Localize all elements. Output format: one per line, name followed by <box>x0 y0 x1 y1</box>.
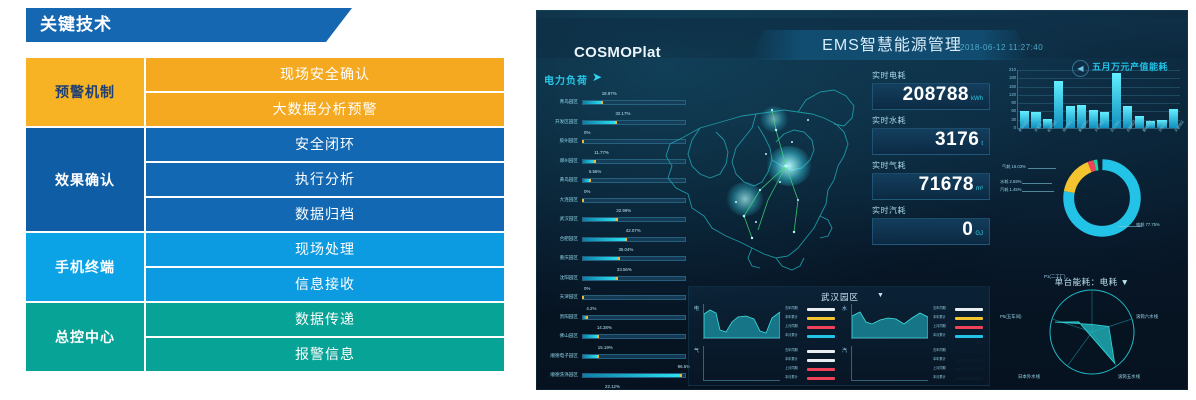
tech-row: 现场安全确认 <box>146 58 504 91</box>
load-bar-label: 胶州园区 <box>542 138 578 144</box>
donut-chart-svg <box>1058 154 1146 242</box>
legend-swatch <box>955 377 983 380</box>
load-bar-track <box>582 334 686 339</box>
legend-label: 上月同期 <box>933 325 953 329</box>
legend-row: 本年累计 <box>933 356 985 364</box>
load-bar-fill <box>583 355 598 358</box>
legend-swatch <box>807 350 835 353</box>
load-bar-row[interactable]: 顺德电子园区15.19% <box>542 344 690 364</box>
load-bar-percent: 0% <box>584 286 590 291</box>
tech-group-label-1: 效果确认 <box>26 128 144 231</box>
load-bar-marker <box>582 199 584 202</box>
legend-row: 本年累计 <box>933 314 985 322</box>
load-bar-label: 贵阳园区 <box>542 314 578 320</box>
load-bar-marker <box>589 179 591 182</box>
y-tick: 180 <box>1009 76 1016 80</box>
tech-row: 报警信息 <box>146 338 504 371</box>
legend-swatch <box>955 368 983 371</box>
kpi-card: 实时电耗208788kWh <box>872 70 990 110</box>
load-bar-label: 郑州园区 <box>542 158 578 164</box>
load-bar-percent: 33.56% <box>617 267 632 272</box>
load-bar-marker <box>582 140 584 143</box>
kpi-card: 实时水耗3176t <box>872 115 990 155</box>
caret-down-icon[interactable]: ▼ <box>877 292 884 299</box>
donut-label-elec: 电耗 77.75% <box>1136 222 1160 228</box>
mini-area-series <box>704 304 780 338</box>
technology-table: 预警机制现场安全确认大数据分析预警效果确认安全闭环执行分析数据归档手机终端现场处… <box>26 58 504 373</box>
legend-swatch <box>807 377 835 380</box>
chevron-right-icon[interactable]: ➤ <box>592 70 602 84</box>
load-bar-fill <box>583 374 681 377</box>
tech-group-rows: 安全闭环执行分析数据归档 <box>146 128 504 231</box>
legend-label: 去年同期 <box>933 349 953 353</box>
load-bar-fill <box>583 257 619 260</box>
china-map[interactable] <box>648 70 884 280</box>
kpi-value-box: 208788kWh <box>872 83 990 110</box>
power-load-title: 电力负荷 <box>544 72 588 87</box>
legend-swatch <box>807 359 835 362</box>
mini-chart-tag: 电 <box>694 305 699 312</box>
tech-group-rows: 现场安全确认大数据分析预警 <box>146 58 504 126</box>
tech-group-label-3: 总控中心 <box>26 303 144 371</box>
kpi-value: 0 <box>962 219 973 241</box>
load-bar-row[interactable]: 贵阳园区4.2% <box>542 305 690 325</box>
legend-swatch <box>955 335 983 338</box>
mini-area-series <box>852 304 928 338</box>
legend-label: 本月累计 <box>785 334 805 338</box>
y-tick: 210 <box>1009 68 1016 72</box>
legend-label: 本月累计 <box>933 334 953 338</box>
mini-chart-tag: 水 <box>842 305 847 312</box>
legend-label: 本年累计 <box>785 358 805 362</box>
kpi-column: 实时电耗208788kWh实时水耗3176t实时气耗71678m³实时汽耗0GJ <box>872 70 990 250</box>
load-bar-marker <box>594 160 596 163</box>
map-link-lines <box>648 70 884 280</box>
tech-group: 效果确认安全闭环执行分析数据归档 <box>26 128 504 231</box>
legend-swatch <box>807 317 835 320</box>
legend-label: 本年累计 <box>785 316 805 320</box>
dashboard-topbar: COSMOPlat EMS智慧能源管理 2018-06-12 11:27:40 … <box>536 18 1188 58</box>
tech-row: 数据传递 <box>146 303 504 336</box>
legend-row: 上月同期 <box>785 365 837 373</box>
key-technology-panel: 关键技术 预警机制现场安全确认大数据分析预警效果确认安全闭环执行分析数据归档手机… <box>0 0 530 400</box>
load-bar-marker <box>597 355 599 358</box>
kpi-unit: t <box>981 141 983 147</box>
load-bar-label: 佛山园区 <box>542 333 578 339</box>
mini-chart-plot <box>703 346 780 381</box>
mini-chart-tag: 汽 <box>842 347 847 354</box>
load-bar-marker <box>618 257 620 260</box>
load-bar-percent: 15.19% <box>598 345 613 350</box>
load-bar-track <box>582 295 686 300</box>
radar-label-1: 滚筒六水线 <box>1136 314 1158 320</box>
bar-chart-y-axis: 2101801501209060300 <box>1002 70 1016 128</box>
legend-swatch <box>807 335 835 338</box>
mini-chart-plot <box>851 304 928 339</box>
legend-label: 去年同期 <box>785 307 805 311</box>
load-bar-percent: 0% <box>584 189 590 194</box>
mini-chart-panel[interactable]: 气去年同期本年累计上月同期本月累计 <box>693 345 838 385</box>
legend-row: 上月同期 <box>785 323 837 331</box>
legend-label: 上月同期 <box>933 367 953 371</box>
kpi-label: 实时汽耗 <box>872 205 990 216</box>
tech-group: 手机终端现场处理信息接收 <box>26 233 504 301</box>
load-bar-marker <box>601 101 603 104</box>
legend-swatch <box>955 359 983 362</box>
mini-chart-plot <box>703 304 780 339</box>
mini-chart-legend: 去年同期本年累计上月同期本月累计 <box>785 305 837 341</box>
tech-group-rows: 数据传递报警信息 <box>146 303 504 371</box>
kpi-value-box: 0GJ <box>872 218 990 245</box>
legend-row: 本月累计 <box>933 332 985 340</box>
legend-row: 本月累计 <box>933 374 985 382</box>
donut-label-steam: 汽耗 1.45% <box>1000 187 1021 193</box>
load-bar-percent: 4.2% <box>586 306 596 311</box>
load-bar-percent: 35.04% <box>618 247 633 252</box>
tech-group-label-0: 预警机制 <box>26 58 144 126</box>
y-tick: 90 <box>1011 101 1016 105</box>
legend-label: 上月同期 <box>785 367 805 371</box>
kpi-unit: m³ <box>976 186 983 192</box>
legend-label: 本年累计 <box>933 316 953 320</box>
legend-row: 去年同期 <box>785 305 837 313</box>
load-bar-label: 青岛园区 <box>542 99 578 105</box>
tech-group-rows: 现场处理信息接收 <box>146 233 504 301</box>
load-bar-fill <box>583 101 602 104</box>
legend-swatch <box>955 317 983 320</box>
load-bar-marker <box>615 121 617 124</box>
mini-chart-legend: 去年同期本年累计上月同期本月累计 <box>785 347 837 383</box>
kpi-label: 实时气耗 <box>872 160 990 171</box>
kpi-card: 实时气耗71678m³ <box>872 160 990 200</box>
load-bar-marker <box>597 335 599 338</box>
mini-chart-legend: 去年同期本年累计上月同期本月累计 <box>933 305 985 341</box>
load-bar-percent: 42.07% <box>626 228 641 233</box>
tech-group: 预警机制现场安全确认大数据分析预警 <box>26 58 504 126</box>
ems-dashboard: COSMOPlat EMS智慧能源管理 2018-06-12 11:27:40 … <box>536 10 1188 390</box>
load-bar-label: 武汉园区 <box>542 216 578 222</box>
legend-swatch <box>807 308 835 311</box>
legend-label: 本月累计 <box>933 376 953 380</box>
load-bar-percent: 11.77% <box>594 150 609 155</box>
load-bar-label: 沈阳园区 <box>542 275 578 281</box>
bar-chart-x-labels: 青岛园区开发区胶州园区郑州园区黄岛园区大连园区武汉园区合肥园区重庆园区沈阳园区天… <box>1017 130 1180 135</box>
load-bar-fill <box>583 218 617 221</box>
mini-chart-legend: 去年同期本年累计上月同期本月累计 <box>933 347 985 383</box>
load-bar-percent: 32.17% <box>615 111 630 116</box>
timestamp: 2018-06-12 11:27:40 <box>960 43 1043 52</box>
load-bar-marker <box>586 316 588 319</box>
kpi-card: 实时汽耗0GJ <box>872 205 990 245</box>
y-tick: 150 <box>1009 85 1016 89</box>
kpi-unit: kWh <box>971 96 983 102</box>
radar-label-2: 滚筒五水线 <box>1118 374 1140 380</box>
load-bar-marker <box>616 277 618 280</box>
legend-label: 去年同期 <box>933 307 953 311</box>
load-bar-fill <box>583 238 626 241</box>
legend-row: 本年累计 <box>785 314 837 322</box>
load-bar-percent: 18.97% <box>602 91 617 96</box>
legend-swatch <box>955 308 983 311</box>
kpi-value-box: 71678m³ <box>872 173 990 200</box>
tech-row: 安全闭环 <box>146 128 504 161</box>
monthly-energy-bar-chart[interactable]: 2101801501209060300 青岛园区开发区胶州园区郑州园区黄岛园区大… <box>1000 68 1184 146</box>
legend-row: 本月累计 <box>785 332 837 340</box>
unit-energy-radar[interactable]: P1(二工厂) 滚筒六水线 滚筒五水线 日本外水线 P5(五车间) <box>1000 274 1184 390</box>
load-bar-fill <box>583 121 616 124</box>
tech-row: 信息接收 <box>146 268 504 301</box>
tech-row: 大数据分析预警 <box>146 93 504 126</box>
legend-row: 去年同期 <box>933 347 985 355</box>
header-arrow-shape <box>326 8 352 42</box>
donut-label-water: 水耗 2.59% <box>1000 179 1021 185</box>
load-bar-percent: 6.56% <box>589 169 601 174</box>
legend-label: 本月累计 <box>785 376 805 380</box>
load-bar-percent: 22.12% <box>605 384 620 389</box>
load-bar-label: 顺德电子园区 <box>542 353 578 359</box>
load-bar-label: 顺德洗涤园区 <box>542 372 578 378</box>
kpi-value: 3176 <box>935 129 979 151</box>
radar-chart-svg <box>1036 276 1148 388</box>
donut-label-gas: 气耗 16.03% <box>1002 164 1026 170</box>
load-bar-track <box>582 354 686 359</box>
panel-header: 关键技术 <box>26 8 326 42</box>
load-bar-label: 开发区园区 <box>542 119 578 125</box>
page-title: 关键技术 <box>40 8 112 42</box>
mini-chart-panel[interactable]: 电去年同期本年累计上月同期本月累计 <box>693 303 838 343</box>
load-bar-row[interactable]: 胶南园区22.12% <box>542 383 690 391</box>
mini-chart-panel[interactable]: 水去年同期本年累计上月同期本月累计 <box>841 303 986 343</box>
radar-label-4: P5(五车间) <box>1000 314 1021 320</box>
legend-row: 去年同期 <box>933 305 985 313</box>
load-bar-marker <box>680 374 682 377</box>
kpi-label: 实时水耗 <box>872 115 990 126</box>
load-bar-marker <box>625 238 627 241</box>
mini-chart-tag: 气 <box>694 347 699 354</box>
legend-swatch <box>807 368 835 371</box>
park-selector-label[interactable]: 武汉园区 <box>689 291 991 303</box>
tech-group-label-2: 手机终端 <box>26 233 144 301</box>
legend-row: 本月累计 <box>785 374 837 382</box>
energy-structure-donut[interactable]: 气耗 16.03% 水耗 2.59% 汽耗 1.45% 电耗 77.75% <box>1000 150 1184 250</box>
load-bar-row[interactable]: 佛山园区14.28% <box>542 324 690 344</box>
load-bar-percent: 0% <box>584 130 590 135</box>
legend-row: 上月同期 <box>933 323 985 331</box>
load-bar-fill <box>583 335 598 338</box>
right-chart-column: 2101801501209060300 青岛园区开发区胶州园区郑州园区黄岛园区大… <box>1000 68 1184 390</box>
radar-label-0: P1(二工厂) <box>1044 274 1065 280</box>
legend-label: 去年同期 <box>785 349 805 353</box>
kpi-value: 208788 <box>903 84 969 106</box>
legend-row: 本年累计 <box>785 356 837 364</box>
load-bar-row[interactable]: 顺德洗涤园区96.5% <box>542 363 690 383</box>
load-bar-marker <box>616 218 618 221</box>
mini-chart-panel[interactable]: 汽去年同期本年累计上月同期本月累计 <box>841 345 986 385</box>
load-bar-label: 天津园区 <box>542 294 578 300</box>
load-bar-marker <box>582 296 584 299</box>
kpi-value: 71678 <box>919 174 974 196</box>
brand-logo: COSMOPlat <box>574 44 661 61</box>
park-detail-panel: 武汉园区 ▼ 电去年同期本年累计上月同期本月累计水去年同期本年累计上月同期本月累… <box>688 286 990 386</box>
legend-swatch <box>807 326 835 329</box>
legend-row: 去年同期 <box>785 347 837 355</box>
legend-label: 上月同期 <box>785 325 805 329</box>
tech-row: 现场处理 <box>146 233 504 266</box>
load-bar-label: 黄岛园区 <box>542 177 578 183</box>
kpi-label: 实时电耗 <box>872 70 990 81</box>
kpi-value-box: 3176t <box>872 128 990 155</box>
load-bar-label: 重庆园区 <box>542 255 578 261</box>
load-bar-fill <box>583 277 617 280</box>
legend-row: 上月同期 <box>933 365 985 373</box>
load-bar-label: 合肥园区 <box>542 236 578 242</box>
y-tick: 120 <box>1009 93 1016 97</box>
screenshot-root: 关键技术 预警机制现场安全确认大数据分析预警效果确认安全闭环执行分析数据归档手机… <box>0 0 1196 400</box>
legend-swatch <box>955 350 983 353</box>
legend-label: 本年累计 <box>933 358 953 362</box>
kpi-unit: GJ <box>975 231 983 237</box>
load-bar-percent: 32.99% <box>616 208 631 213</box>
load-bar-label: 大连园区 <box>542 197 578 203</box>
tech-group: 总控中心数据传递报警信息 <box>26 303 504 371</box>
load-bar-track <box>582 373 686 378</box>
y-tick: 60 <box>1011 109 1016 113</box>
legend-swatch <box>955 326 983 329</box>
tech-row: 执行分析 <box>146 163 504 196</box>
load-bar-row[interactable]: 天津园区0% <box>542 285 690 305</box>
tech-row: 数据归档 <box>146 198 504 231</box>
radar-label-3: 日本外水线 <box>1018 374 1040 380</box>
load-bar-track <box>582 315 686 320</box>
mini-chart-plot <box>851 346 928 381</box>
load-bar-percent: 14.28% <box>597 325 612 330</box>
y-tick: 30 <box>1011 118 1016 122</box>
